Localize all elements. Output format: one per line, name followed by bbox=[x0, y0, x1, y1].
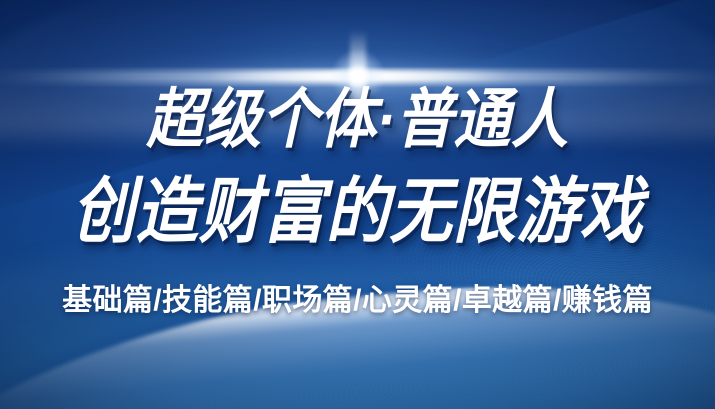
poster-subtitle: 基础篇/技能篇/职场篇/心灵篇/卓越篇/赚钱篇 bbox=[62, 286, 653, 316]
poster-content: 超级个体·普通人 创造财富的无限游戏 基础篇/技能篇/职场篇/心灵篇/卓越篇/赚… bbox=[0, 0, 715, 409]
poster-title-line-2: 创造财富的无限游戏 bbox=[72, 177, 644, 249]
promo-poster: 超级个体·普通人 创造财富的无限游戏 基础篇/技能篇/职场篇/心灵篇/卓越篇/赚… bbox=[0, 0, 715, 409]
poster-title-line-1: 超级个体·普通人 bbox=[147, 88, 569, 153]
